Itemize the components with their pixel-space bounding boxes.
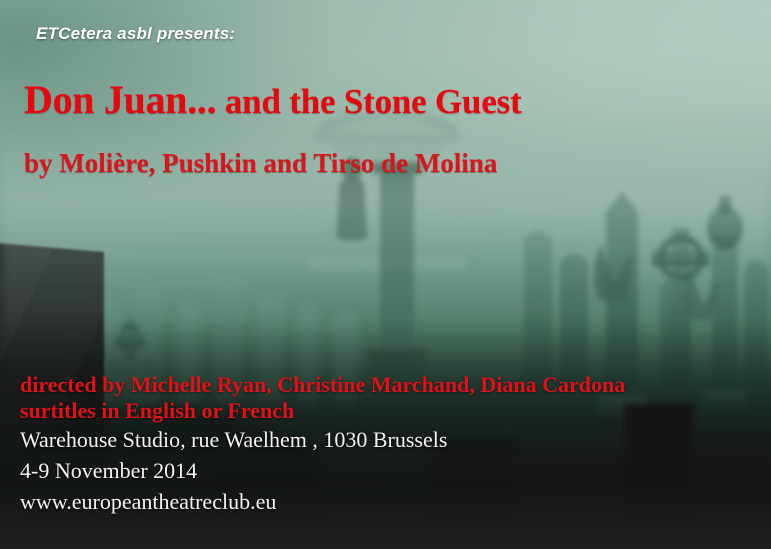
dates-line: 4-9 November 2014: [20, 455, 625, 486]
directed-by-line: directed by Michelle Ryan, Christine Mar…: [20, 372, 625, 398]
poster-title: Don Juan... and the Stone Guest: [24, 76, 522, 123]
authors-byline: by Molière, Pushkin and Tirso de Molina: [24, 148, 497, 179]
credits-block: directed by Michelle Ryan, Christine Mar…: [20, 372, 625, 517]
theatre-poster: ETCetera asbl presents: Don Juan... and …: [0, 0, 771, 549]
title-subtitle: and the Stone Guest: [216, 82, 521, 121]
poster-text-layer: ETCetera asbl presents: Don Juan... and …: [0, 0, 771, 549]
venue-line: Warehouse Studio, rue Waelhem , 1030 Bru…: [20, 424, 625, 455]
surtitles-line: surtitles in English or French: [20, 398, 625, 424]
company-presents-line: ETCetera asbl presents:: [36, 24, 235, 44]
title-main: Don Juan...: [24, 77, 216, 122]
website-line[interactable]: www.europeantheatreclub.eu: [20, 486, 625, 517]
